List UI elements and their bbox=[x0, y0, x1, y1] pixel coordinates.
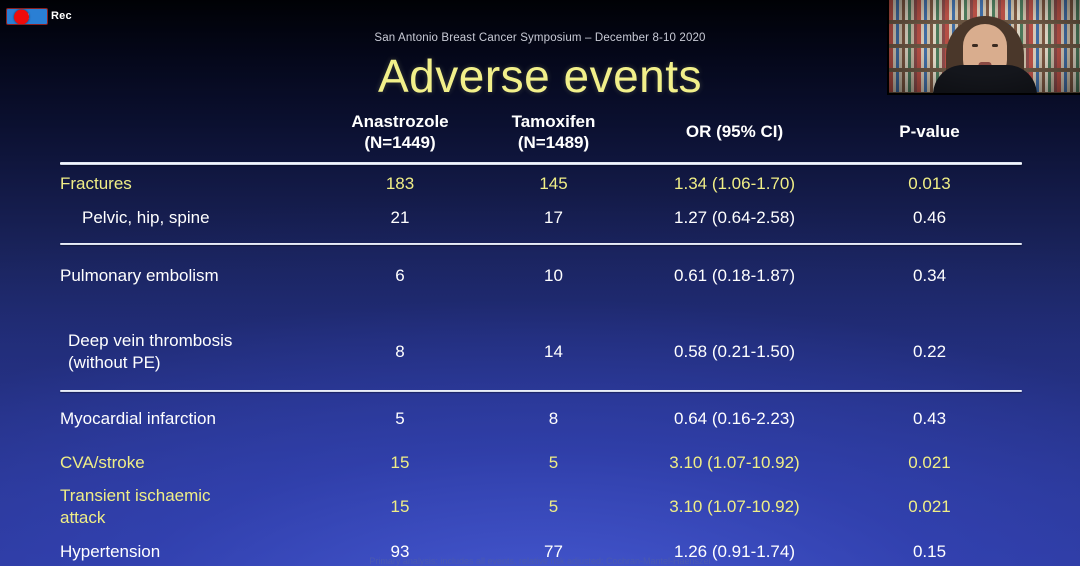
row-or: 0.58 (0.21-1.50) bbox=[632, 341, 837, 363]
table-row: Pelvic, hip, spine 21 17 1.27 (0.64-2.58… bbox=[60, 207, 1022, 229]
row-pvalue: 0.021 bbox=[837, 496, 1022, 518]
header-pvalue: P-value bbox=[837, 112, 1022, 143]
header-anastrozole: Anastrozole (N=1449) bbox=[325, 112, 475, 153]
row-tamoxifen: 5 bbox=[475, 496, 632, 518]
table-header-row: Anastrozole (N=1449) Tamoxifen (N=1489) … bbox=[60, 112, 1022, 162]
row-label: Myocardial infarction bbox=[60, 408, 325, 430]
row-tamoxifen: 10 bbox=[475, 265, 632, 287]
row-pvalue: 0.34 bbox=[837, 265, 1022, 287]
row-anastrozole: 6 bbox=[325, 265, 475, 287]
header-tamoxifen-name: Tamoxifen bbox=[512, 112, 596, 131]
header-tamoxifen: Tamoxifen (N=1489) bbox=[475, 112, 632, 153]
webcam-vignette bbox=[889, 0, 1080, 93]
row-anastrozole: 21 bbox=[325, 207, 475, 229]
row-label: Fractures bbox=[60, 173, 325, 195]
recording-label: Rec bbox=[51, 11, 72, 22]
row-label: Pulmonary embolism bbox=[60, 265, 325, 287]
row-label: CVA/stroke bbox=[60, 452, 325, 474]
row-or: 0.64 (0.16-2.23) bbox=[632, 408, 837, 430]
table-row: Pulmonary embolism 6 10 0.61 (0.18-1.87)… bbox=[60, 265, 1022, 287]
row-tamoxifen: 14 bbox=[475, 341, 632, 363]
presenter-webcam-overlay[interactable] bbox=[887, 0, 1080, 95]
row-label: Deep vein thrombosis (without PE) bbox=[60, 330, 325, 374]
row-anastrozole: 15 bbox=[325, 452, 475, 474]
recording-indicator: R Rec bbox=[6, 8, 72, 25]
row-tamoxifen: 17 bbox=[475, 207, 632, 229]
header-anastrozole-name: Anastrozole bbox=[351, 112, 448, 131]
row-or: 1.27 (0.64-2.58) bbox=[632, 207, 837, 229]
header-or: OR (95% CI) bbox=[632, 112, 837, 143]
row-label: Transient ischaemic attack bbox=[60, 485, 325, 529]
row-anastrozole: 5 bbox=[325, 408, 475, 430]
adverse-events-table: Anastrozole (N=1449) Tamoxifen (N=1489) … bbox=[60, 112, 1022, 566]
row-pvalue: 0.22 bbox=[837, 341, 1022, 363]
row-pvalue: 0.021 bbox=[837, 452, 1022, 474]
row-pvalue: 0.43 bbox=[837, 408, 1022, 430]
table-row: Fractures 183 145 1.34 (1.06-1.70) 0.013 bbox=[60, 173, 1022, 195]
presentation-slide: R Rec San Antonio Breast Cancer Symposiu… bbox=[0, 0, 1080, 566]
row-pvalue: 0.46 bbox=[837, 207, 1022, 229]
row-anastrozole: 8 bbox=[325, 341, 475, 363]
table-row: CVA/stroke 15 5 3.10 (1.07-10.92) 0.021 bbox=[60, 452, 1022, 474]
row-tamoxifen: 145 bbox=[475, 173, 632, 195]
table-row: Transient ischaemic attack 15 5 3.10 (1.… bbox=[60, 485, 1022, 529]
slide-footnote: Primary analysis; includes all events, r… bbox=[0, 556, 1080, 566]
row-pvalue: 0.013 bbox=[837, 173, 1022, 195]
header-tamoxifen-n: (N=1489) bbox=[475, 133, 632, 154]
row-label: Pelvic, hip, spine bbox=[60, 207, 325, 229]
record-dot-icon bbox=[14, 9, 29, 24]
row-anastrozole: 183 bbox=[325, 173, 475, 195]
row-tamoxifen: 5 bbox=[475, 452, 632, 474]
row-or: 1.34 (1.06-1.70) bbox=[632, 173, 837, 195]
row-anastrozole: 15 bbox=[325, 496, 475, 518]
row-or: 0.61 (0.18-1.87) bbox=[632, 265, 837, 287]
table-row: Myocardial infarction 5 8 0.64 (0.16-2.2… bbox=[60, 408, 1022, 430]
table-row: Deep vein thrombosis (without PE) 8 14 0… bbox=[60, 330, 1022, 374]
row-or: 3.10 (1.07-10.92) bbox=[632, 452, 837, 474]
row-or: 3.10 (1.07-10.92) bbox=[632, 496, 837, 518]
record-chip-icon: R bbox=[6, 8, 48, 25]
header-anastrozole-n: (N=1449) bbox=[325, 133, 475, 154]
row-tamoxifen: 8 bbox=[475, 408, 632, 430]
